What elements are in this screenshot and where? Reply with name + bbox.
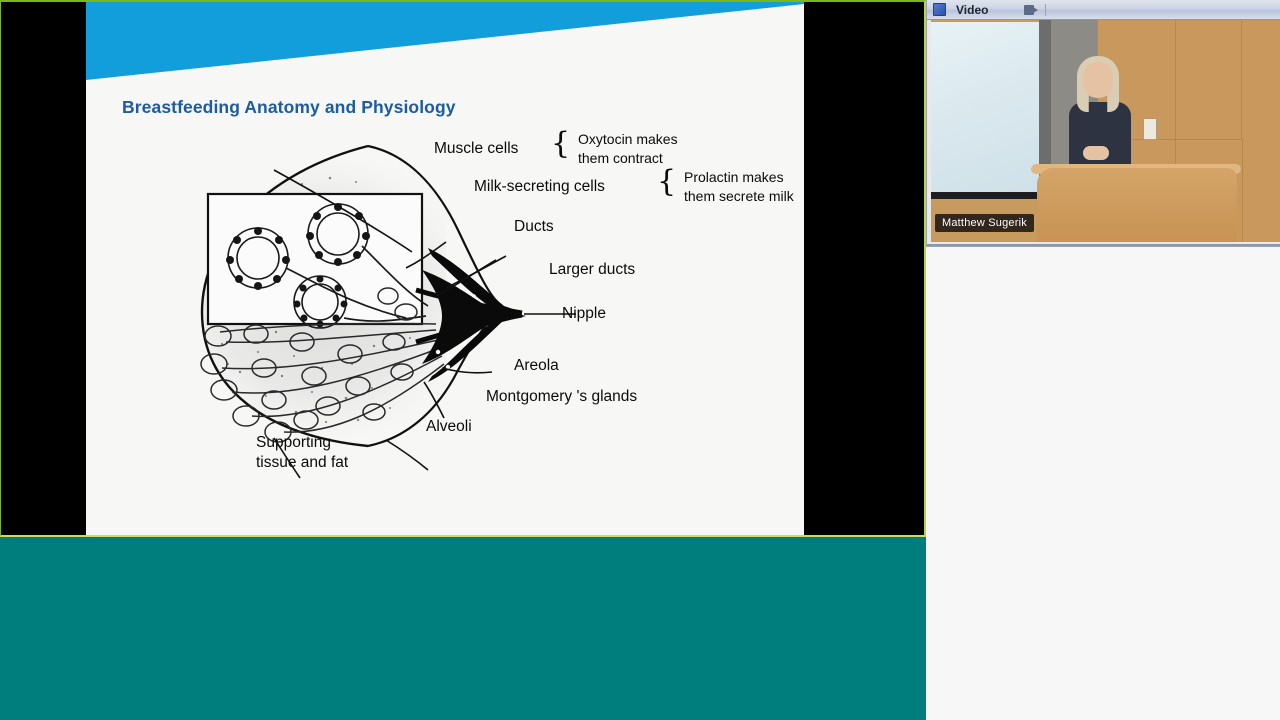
label-larger-ducts: Larger ducts (549, 261, 635, 279)
video-window-title: Video (956, 3, 988, 17)
app-square-icon (933, 3, 946, 16)
label-oxytocin-line2: them contract (578, 150, 663, 166)
label-alveoli: Alveoli (426, 418, 472, 436)
breast-anatomy-figure: Muscle cells { Oxytocin makes them contr… (106, 120, 804, 490)
wall-fixture (1143, 118, 1157, 140)
label-montgomerys-glands: Montgomery 's glands (486, 388, 637, 406)
brace-oxytocin-icon: { (551, 129, 570, 159)
wall-panel (1175, 20, 1243, 141)
label-muscle-cells: Muscle cells (434, 140, 518, 158)
video-window-bottom-border (927, 244, 1280, 246)
speaker-hands (1083, 146, 1109, 160)
bottom-teal-band (0, 537, 926, 720)
right-panel-empty-area (926, 247, 1280, 720)
label-nipple: Nipple (562, 305, 606, 323)
label-supporting-tissue-line2: tissue and fat (256, 454, 348, 472)
video-frame[interactable]: Matthew Sugerik (931, 20, 1280, 242)
page-title: Breastfeeding Anatomy and Physiology (122, 97, 456, 118)
lecture-hall-scene: Matthew Sugerik (931, 20, 1280, 242)
label-prolactin-line2: them secrete milk (684, 188, 794, 204)
slide-canvas[interactable]: Breastfeeding Anatomy and Physiology (86, 2, 804, 535)
label-ducts: Ducts (514, 218, 554, 236)
projection-screen (931, 22, 1043, 194)
webcast-viewer: Breastfeeding Anatomy and Physiology (0, 0, 1280, 720)
label-supporting-tissue-line1: Supporting (256, 434, 331, 452)
slide-accent-wedge (86, 2, 804, 88)
brace-prolactin-icon: { (657, 167, 676, 197)
right-panel: Video (926, 0, 1280, 720)
speaker-name-badge: Matthew Sugerik (935, 214, 1034, 232)
label-areola: Areola (514, 357, 559, 375)
label-oxytocin-line1: Oxytocin makes (578, 131, 678, 147)
titlebar-divider (1045, 4, 1046, 16)
screen-base (931, 192, 1043, 199)
slide-stage[interactable]: Breastfeeding Anatomy and Physiology (0, 0, 926, 537)
video-window[interactable]: Video (926, 0, 1280, 247)
video-viewport[interactable]: Matthew Sugerik (927, 20, 1280, 246)
speaker-head (1083, 62, 1113, 98)
wall-panel (1241, 20, 1280, 242)
label-prolactin-line1: Prolactin makes (684, 169, 784, 185)
podium (1037, 168, 1237, 242)
label-milk-secreting-cells: Milk-secreting cells (474, 178, 605, 196)
video-window-titlebar[interactable]: Video (927, 0, 1280, 20)
camera-icon[interactable] (1024, 5, 1039, 15)
